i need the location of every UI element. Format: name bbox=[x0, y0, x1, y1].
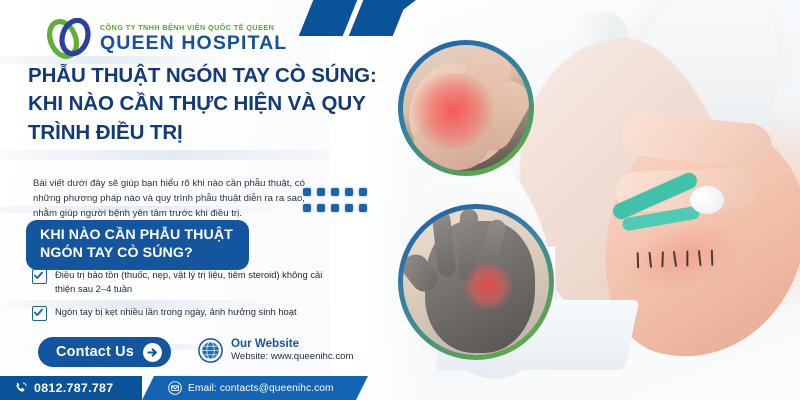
banner-root: CÔNG TY TNHH BỆNH VIỆN QUỐC TẾ QUEEN QUE… bbox=[0, 0, 800, 400]
question-line-2: NGÓN TAY CÒ SÚNG? bbox=[40, 245, 233, 263]
question-line-1: KHI NÀO CẦN PHẪU THUẬT bbox=[40, 227, 233, 245]
website-url: Website: www.queenihc.com bbox=[231, 351, 353, 363]
title-line-1: PHẪU THUẬT NGÓN TAY CÒ SÚNG: bbox=[28, 62, 358, 90]
brand-tagline: CÔNG TY TNHH BỆNH VIỆN QUỐC TẾ QUEEN bbox=[100, 24, 287, 31]
arrow-right-circle-icon bbox=[143, 343, 162, 362]
contact-us-label: Contact Us bbox=[56, 344, 134, 360]
intro-paragraph: Bài viết dưới đây sẽ giúp bạn hiểu rõ kh… bbox=[33, 176, 323, 221]
globe-icon bbox=[198, 338, 223, 363]
question-banner: KHI NÀO CẦN PHẪU THUẬT NGÓN TAY CÒ SÚNG? bbox=[26, 220, 249, 270]
bullet-text: Ngón tay bị kẹt nhiều lần trong ngày, ản… bbox=[55, 305, 297, 319]
checkbox-checked-icon bbox=[32, 306, 47, 321]
footer-phone-number: 0812.787.787 bbox=[34, 381, 113, 395]
website-title: Our Website bbox=[231, 337, 353, 351]
list-item: Điều trị bảo tồn (thuốc, nẹp, vật lý trị… bbox=[32, 268, 344, 296]
checkbox-checked-icon bbox=[32, 269, 47, 284]
footer-bar: 0812.787.787 Email: contacts@queenihc.co… bbox=[0, 376, 800, 400]
footer-email[interactable]: Email: contacts@queenihc.com bbox=[168, 376, 334, 400]
website-info[interactable]: Our Website Website: www.queenihc.com bbox=[198, 337, 353, 363]
contact-us-button[interactable]: Contact Us bbox=[38, 337, 171, 367]
parallelogram-decor-1 bbox=[299, 0, 358, 36]
brand-logo[interactable]: CÔNG TY TNHH BỆNH VIỆN QUỐC TẾ QUEEN QUE… bbox=[46, 18, 287, 60]
footer-phone[interactable]: 0812.787.787 bbox=[14, 376, 113, 400]
title-line-3: TRÌNH ĐIỀU TRỊ bbox=[28, 119, 358, 147]
footer-email-address: Email: contacts@queenihc.com bbox=[188, 383, 334, 394]
page-title: PHẪU THUẬT NGÓN TAY CÒ SÚNG: KHI NÀO CẦN… bbox=[28, 62, 358, 147]
interlocking-ovals-logo-icon bbox=[46, 18, 92, 60]
envelope-icon bbox=[168, 381, 182, 395]
bullet-list: Điều trị bảo tồn (thuốc, nẹp, vật lý trị… bbox=[32, 268, 344, 321]
inset-photo-painful-hand bbox=[398, 40, 534, 176]
brand-name: QUEEN HOSPITAL bbox=[100, 34, 287, 54]
list-item: Ngón tay bị kẹt nhiều lần trong ngày, ản… bbox=[32, 305, 344, 321]
title-line-2: KHI NÀO CẦN THỰC HIỆN VÀ QUY bbox=[28, 90, 358, 118]
inset-photo-trigger-finger bbox=[398, 204, 554, 360]
phone-icon bbox=[14, 381, 28, 395]
dot-grid-decor bbox=[303, 188, 373, 220]
bullet-text: Điều trị bảo tồn (thuốc, nẹp, vật lý trị… bbox=[55, 268, 344, 296]
